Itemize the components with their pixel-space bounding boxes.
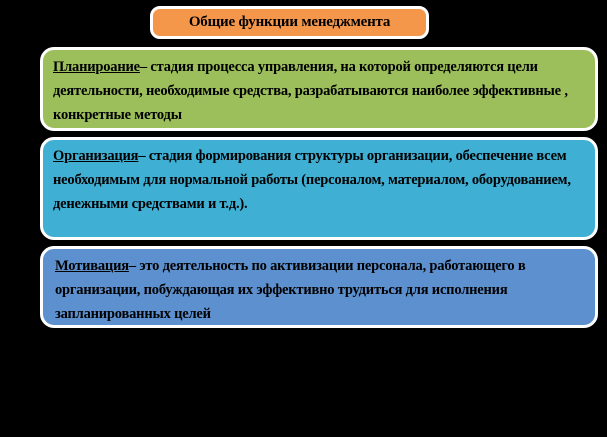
callout-box-motivation[interactable]: Мотивация– это деятельность по активизац… bbox=[40, 246, 598, 328]
planning-dash: – bbox=[140, 59, 147, 75]
motivation-term: Мотивация bbox=[55, 258, 129, 274]
planning-text: Планироание– стадия процесса управления,… bbox=[53, 55, 593, 127]
title-callout-box[interactable]: Общие функции менеджмента bbox=[150, 6, 429, 39]
motivation-text: Мотивация– это деятельность по активизац… bbox=[55, 254, 595, 326]
callout-box-planning[interactable]: Планироание– стадия процесса управления,… bbox=[40, 47, 598, 131]
organization-text: Организация– стадия формирования структу… bbox=[53, 144, 595, 216]
organization-term: Организация bbox=[53, 148, 138, 164]
planning-term: Планироание bbox=[53, 59, 140, 75]
slide-title: Общие функции менеджмента bbox=[189, 14, 390, 31]
motivation-dash: – bbox=[129, 258, 136, 274]
callout-box-organization[interactable]: Организация– стадия формирования структу… bbox=[40, 137, 598, 240]
slide-canvas: Общие функции менеджмента Планироание– с… bbox=[0, 0, 607, 437]
